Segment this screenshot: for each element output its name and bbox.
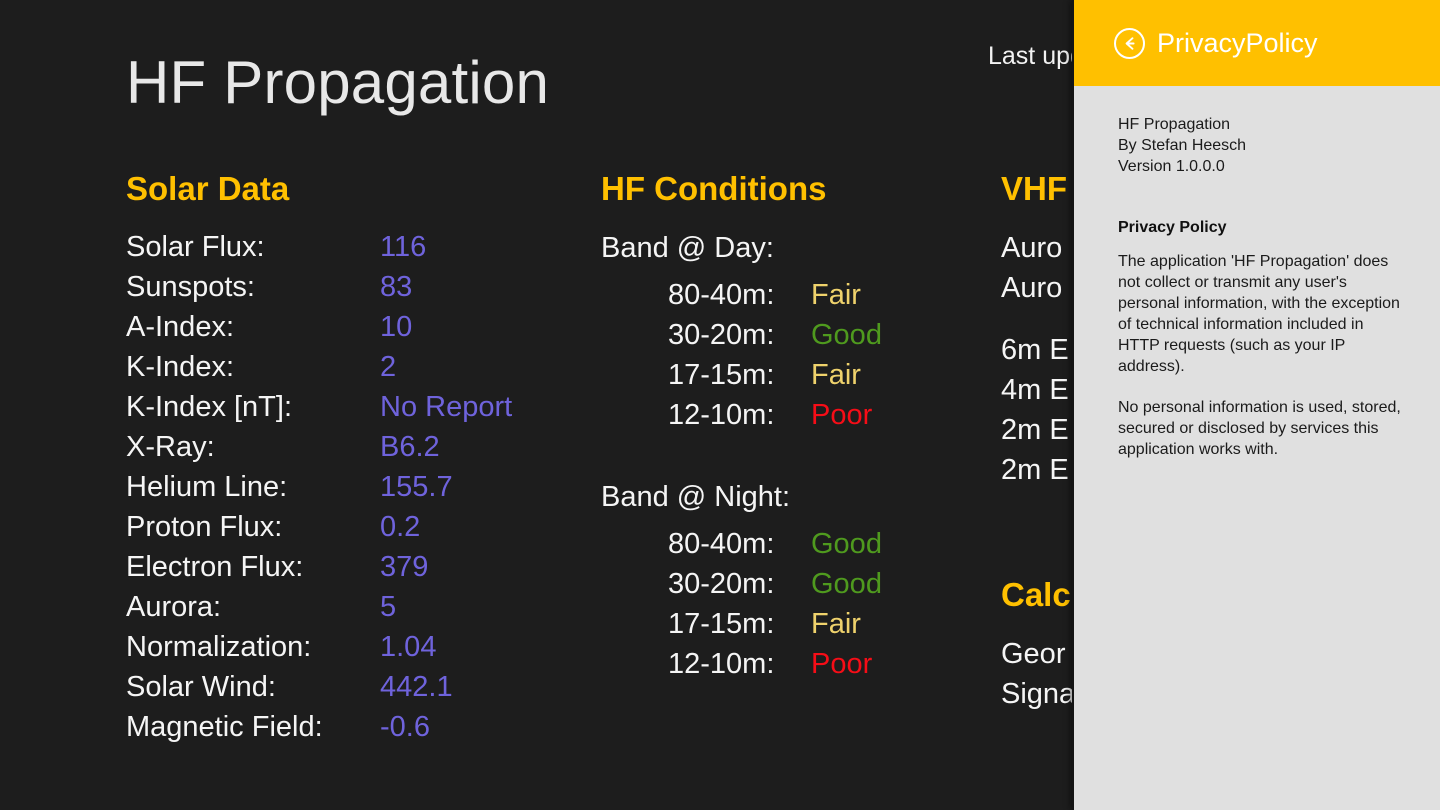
solar-data-value: 155.7 [380, 471, 453, 504]
hf-conditions-section: HF Conditions Band @ Day: 80-40m:Fair30-… [601, 168, 996, 688]
solar-data-value: 10 [380, 311, 412, 344]
band-label: 80-40m: [668, 528, 811, 561]
page-title: HF Propagation [126, 48, 549, 117]
band-label: 12-10m: [668, 399, 811, 432]
band-condition-row: 80-40m:Fair [668, 279, 996, 319]
solar-data-section: Solar Data Solar Flux:116Sunspots:83A-In… [126, 168, 586, 751]
band-condition-value: Poor [811, 648, 872, 681]
solar-data-value: 1.04 [380, 631, 436, 664]
flyout-author: By Stefan Heesch [1118, 135, 1406, 156]
band-label: 17-15m: [668, 608, 811, 641]
solar-data-label: Normalization: [126, 631, 380, 664]
band-condition-value: Fair [811, 359, 861, 392]
solar-data-row: Proton Flux:0.2 [126, 511, 586, 551]
solar-data-value: B6.2 [380, 431, 440, 464]
solar-data-value: 83 [380, 271, 412, 304]
solar-data-row: Solar Flux:116 [126, 231, 586, 271]
solar-data-row: X-Ray:B6.2 [126, 431, 586, 471]
solar-data-label: Magnetic Field: [126, 711, 380, 744]
solar-data-label: Sunspots: [126, 271, 380, 304]
solar-data-row: Helium Line:155.7 [126, 471, 586, 511]
solar-data-value: 0.2 [380, 511, 420, 544]
solar-data-row: K-Index:2 [126, 351, 586, 391]
solar-data-label: K-Index [nT]: [126, 391, 380, 424]
solar-data-value: -0.6 [380, 711, 430, 744]
solar-data-label: Electron Flux: [126, 551, 380, 584]
solar-data-row: Sunspots:83 [126, 271, 586, 311]
solar-data-list: Solar Flux:116Sunspots:83A-Index:10K-Ind… [126, 231, 586, 751]
solar-data-value: 5 [380, 591, 396, 624]
band-day-title: Band @ Day: [601, 232, 996, 265]
solar-data-heading: Solar Data [126, 168, 586, 210]
solar-data-label: K-Index: [126, 351, 380, 384]
solar-data-value: No Report [380, 391, 512, 424]
privacy-policy-heading: Privacy Policy [1118, 219, 1406, 237]
band-condition-row: 12-10m:Poor [668, 399, 996, 439]
privacy-policy-flyout: PrivacyPolicy HF Propagation By Stefan H… [1072, 0, 1440, 810]
solar-data-value: 379 [380, 551, 428, 584]
flyout-body: HF Propagation By Stefan Heesch Version … [1074, 86, 1440, 460]
band-label: 80-40m: [668, 279, 811, 312]
band-condition-value: Fair [811, 279, 861, 312]
band-condition-row: 12-10m:Poor [668, 648, 996, 688]
solar-data-row: A-Index:10 [126, 311, 586, 351]
solar-data-label: Helium Line: [126, 471, 380, 504]
band-condition-row: 17-15m:Fair [668, 608, 996, 648]
solar-data-row: K-Index [nT]:No Report [126, 391, 586, 431]
solar-data-row: Normalization:1.04 [126, 631, 586, 671]
solar-data-row: Electron Flux:379 [126, 551, 586, 591]
band-label: 30-20m: [668, 319, 811, 352]
band-night-title: Band @ Night: [601, 481, 996, 514]
solar-data-label: A-Index: [126, 311, 380, 344]
band-condition-value: Good [811, 568, 882, 601]
solar-data-row: Magnetic Field:-0.6 [126, 711, 586, 751]
band-label: 30-20m: [668, 568, 811, 601]
band-condition-value: Fair [811, 608, 861, 641]
solar-data-row: Aurora:5 [126, 591, 586, 631]
hf-conditions-heading: HF Conditions [601, 168, 996, 210]
back-arrow-circle-icon[interactable] [1114, 28, 1145, 59]
solar-data-label: Solar Wind: [126, 671, 380, 704]
last-updated-label: Last upd [988, 42, 1084, 71]
band-condition-row: 17-15m:Fair [668, 359, 996, 399]
band-condition-value: Good [811, 528, 882, 561]
solar-data-value: 442.1 [380, 671, 453, 704]
flyout-version: Version 1.0.0.0 [1118, 156, 1406, 177]
solar-data-row: Solar Wind:442.1 [126, 671, 586, 711]
band-condition-value: Poor [811, 399, 872, 432]
flyout-title: PrivacyPolicy [1157, 28, 1318, 59]
band-condition-row: 30-20m:Good [668, 319, 996, 359]
flyout-header: PrivacyPolicy [1074, 0, 1440, 86]
band-condition-value: Good [811, 319, 882, 352]
solar-data-label: Solar Flux: [126, 231, 380, 264]
solar-data-label: X-Ray: [126, 431, 380, 464]
flyout-app-name: HF Propagation [1118, 114, 1406, 135]
privacy-paragraph-2: No personal information is used, stored,… [1118, 397, 1406, 460]
solar-data-value: 116 [380, 231, 426, 264]
solar-data-value: 2 [380, 351, 396, 384]
solar-data-label: Aurora: [126, 591, 380, 624]
band-condition-row: 80-40m:Good [668, 528, 996, 568]
band-day-list: 80-40m:Fair30-20m:Good17-15m:Fair12-10m:… [601, 279, 996, 439]
band-label: 12-10m: [668, 648, 811, 681]
band-condition-row: 30-20m:Good [668, 568, 996, 608]
privacy-paragraph-1: The application 'HF Propagation' does no… [1118, 251, 1406, 377]
band-night-list: 80-40m:Good30-20m:Good17-15m:Fair12-10m:… [601, 528, 996, 688]
solar-data-label: Proton Flux: [126, 511, 380, 544]
band-label: 17-15m: [668, 359, 811, 392]
